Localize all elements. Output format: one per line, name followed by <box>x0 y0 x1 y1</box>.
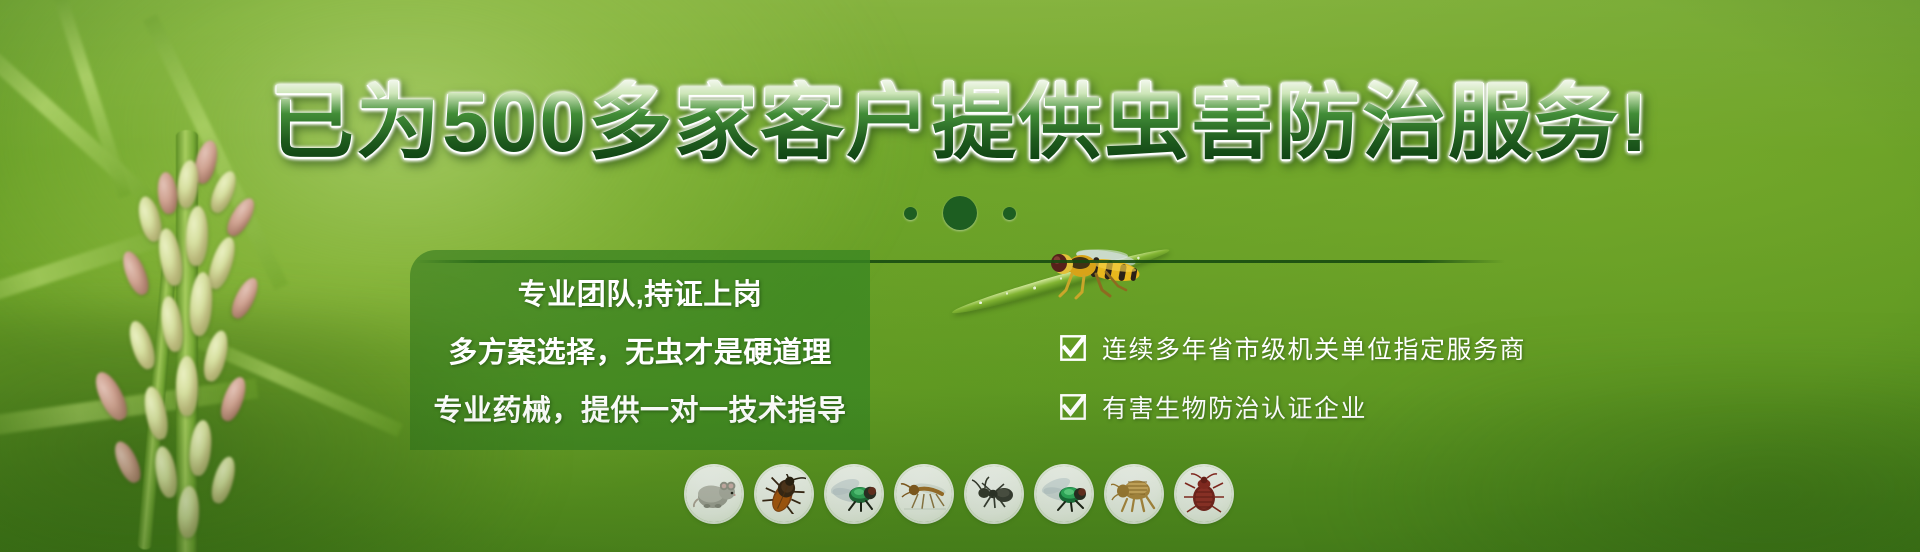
list-item: 连续多年省市级机关单位指定服务商 <box>1060 330 1526 366</box>
pest-badge-cockroach[interactable] <box>756 466 812 522</box>
pest-badge-bedbug[interactable] <box>1176 466 1232 522</box>
flea-icon <box>1111 475 1157 513</box>
pest-badge-mouse[interactable] <box>686 466 742 522</box>
housefly-icon <box>831 475 877 513</box>
bedbug-icon <box>1183 473 1225 515</box>
checkbox-checked-icon <box>1060 394 1086 420</box>
pest-badge-mosquito[interactable] <box>896 466 952 522</box>
pest-badge-ant[interactable] <box>966 466 1022 522</box>
feature-line-1: 专业团队,持证上岗 <box>518 271 763 313</box>
feature-panel-text: 专业团队,持证上岗 多方案选择，无虫才是硬道理 专业药械，提供一对一技术指导 <box>410 250 870 450</box>
greenbottle-fly-icon <box>1041 475 1087 513</box>
cockroach-icon <box>762 474 806 514</box>
pest-badge-housefly[interactable] <box>826 466 882 522</box>
list-item-label: 连续多年省市级机关单位指定服务商 <box>1102 330 1526 366</box>
dot-small-right-icon <box>1003 207 1016 220</box>
dot-large-icon <box>943 196 977 230</box>
hoverfly-icon <box>1040 242 1160 304</box>
credentials-checklist: 连续多年省市级机关单位指定服务商 有害生物防治认证企业 <box>1060 330 1526 425</box>
page-title: 已为500多家客户提供虫害防治服务! <box>0 80 1920 164</box>
pest-badge-flea[interactable] <box>1106 466 1162 522</box>
pest-icon-row <box>686 466 1232 522</box>
ant-icon <box>971 476 1017 512</box>
checkbox-checked-icon <box>1060 335 1086 361</box>
dot-small-left-icon <box>904 207 917 220</box>
decorative-dots <box>0 196 1920 230</box>
list-item-label: 有害生物防治认证企业 <box>1102 389 1367 425</box>
feature-line-3: 专业药械，提供一对一技术指导 <box>433 387 846 429</box>
mouse-icon <box>691 477 737 511</box>
feature-line-2: 多方案选择，无虫才是硬道理 <box>448 329 832 371</box>
list-item: 有害生物防治认证企业 <box>1060 389 1526 425</box>
promo-banner: 已为500多家客户提供虫害防治服务! 专业团队,持证上岗 多方案选择，无虫才是硬… <box>0 0 1920 552</box>
pest-badge-greenbottle-fly[interactable] <box>1036 466 1092 522</box>
mosquito-icon <box>900 474 948 514</box>
